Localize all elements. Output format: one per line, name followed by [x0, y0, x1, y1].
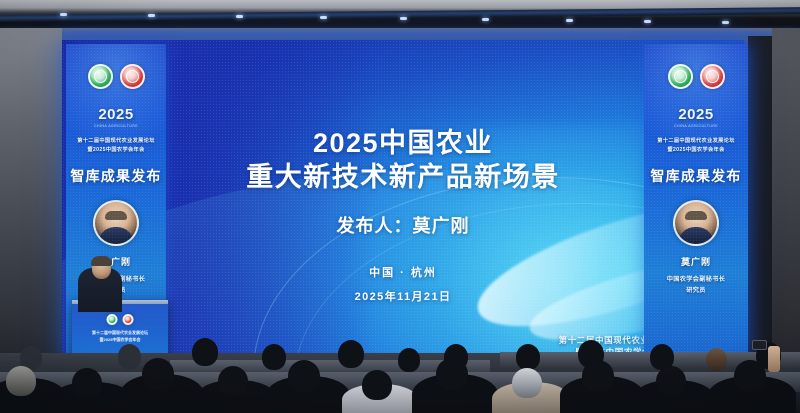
audience-head: [118, 344, 141, 369]
audience-head: [734, 360, 766, 392]
banner-pixel-texture: [644, 44, 748, 364]
podium-logos: [107, 314, 134, 325]
podium-text: 第十二届中国现代农业发展论坛 暨2025中国农学会年会: [72, 330, 168, 344]
conference-photo-scene: 2025中国农业 重大新技术新产品新场景 发布人：莫广刚 中国 · 杭州 202…: [0, 0, 800, 413]
wall-left-pillar: [0, 28, 62, 368]
audience-head: [262, 344, 286, 370]
right-banner-screen: 2025 CHINA AGRICULTURE 第十二届中国现代农业发展论坛 暨2…: [644, 44, 748, 364]
ceiling-light-dot: [722, 21, 729, 24]
audience-head: [656, 366, 686, 396]
audience-head: [706, 348, 727, 371]
audience-head: [398, 348, 420, 372]
audience-head: [192, 338, 218, 366]
ceiling-light-dot: [644, 20, 651, 23]
audience-head: [142, 358, 174, 390]
audience-head: [582, 360, 614, 392]
ceiling-light-dot: [320, 16, 327, 19]
green-emblem-logo: [107, 314, 118, 325]
podium-text-line2: 暨2025中国农学会年会: [72, 337, 168, 344]
ceiling-light-dot: [566, 19, 573, 22]
audience-head: [6, 366, 36, 396]
ceiling-light-dot: [236, 15, 243, 18]
audience-head: [516, 344, 540, 370]
ceiling-light-dot: [400, 17, 407, 20]
audience-head: [362, 370, 392, 400]
ceiling-light-dot: [148, 14, 155, 17]
ceiling-light-dot: [60, 13, 67, 16]
audience-head: [218, 366, 248, 396]
audience-head: [436, 358, 468, 390]
wall-right-pillar: [772, 28, 800, 368]
podium-text-line1: 第十二届中国现代农业发展论坛: [72, 330, 168, 337]
podium-speaker-hair: [91, 256, 112, 266]
audience-raised-hand: [768, 346, 780, 372]
wall-right-dark-band: [748, 36, 772, 366]
audience-head: [512, 368, 542, 398]
audience-head: [72, 368, 102, 398]
audience-head: [288, 360, 320, 392]
ceiling-light-dot: [482, 18, 489, 21]
red-emblem-logo: [123, 314, 134, 325]
audience-phone: [752, 340, 767, 350]
audience-head: [338, 340, 364, 368]
